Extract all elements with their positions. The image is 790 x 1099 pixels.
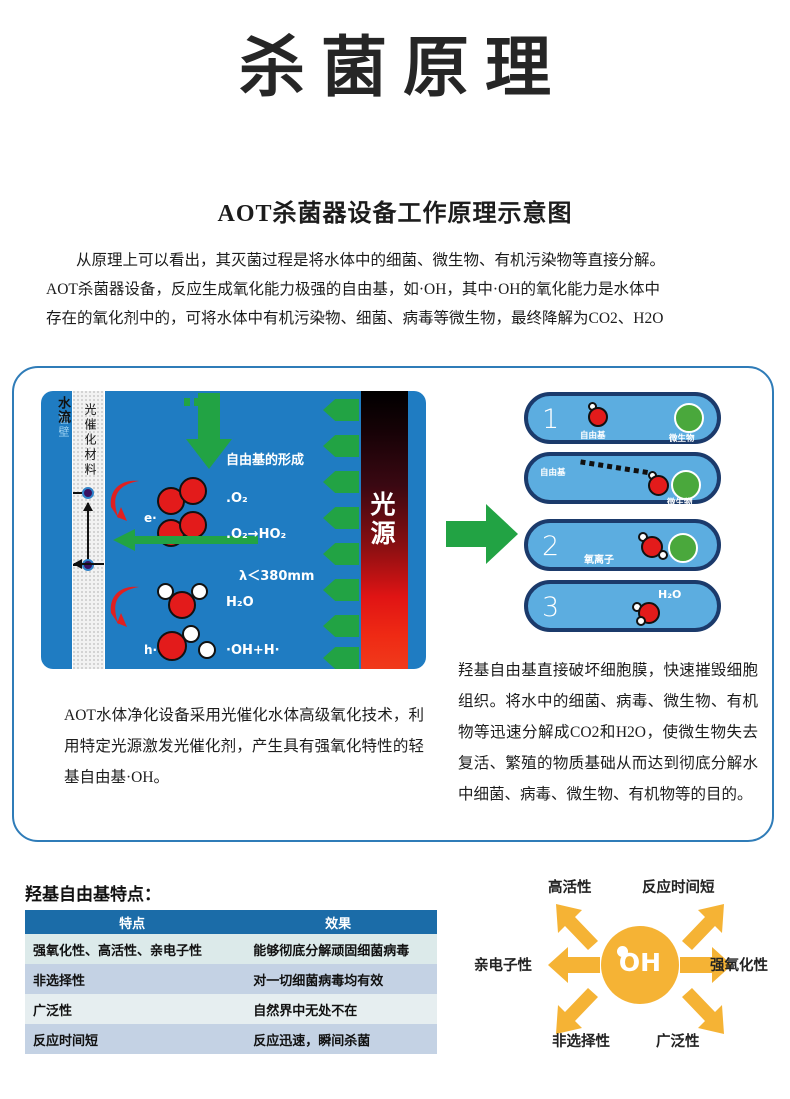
radial-label-high-activity: 高活性 — [548, 876, 592, 897]
red-curve-arrow-upper-icon — [109, 477, 143, 523]
page-root: 杀菌原理 AOT杀菌器设备工作原理示意图 从原理上可以看出，其灭菌过程是将水体中… — [0, 0, 790, 1099]
capsule-number: 3 — [542, 592, 559, 623]
table-row: 强氧化性、高活性、亲电子性 能够彻底分解顽固细菌病毒 — [25, 934, 437, 964]
o2-radical-label: .O₂ — [226, 491, 248, 506]
red-curve-arrow-lower-icon — [109, 583, 143, 629]
intro-line-2: AOT杀菌器设备，反应生成氧化能力极强的自由基，如·OH，其中·OH的氧化能力是… — [46, 275, 746, 304]
uv-chevron-icon — [323, 647, 359, 669]
intro-line-3: 存在的氧化剂中的，可将水体中有机污染物、细菌、病毒等微生物，最终降解为CO2、H… — [46, 304, 746, 333]
uv-chevron-icon — [323, 435, 359, 457]
electron-in-arrow-icon — [74, 563, 104, 565]
electron-dash-top — [73, 492, 82, 494]
uv-chevron-icon — [323, 579, 359, 601]
capsule-step-attack: 自由基 微生物 — [524, 452, 721, 504]
electron-up-arrow-icon — [87, 503, 89, 559]
capsule-label-radical: 自由基 — [580, 429, 606, 441]
microorganism-cell-icon — [668, 533, 698, 563]
electron-dot-bottom — [82, 559, 94, 571]
capsule-label-microorganism: 微生物 — [667, 496, 693, 508]
radial-label-non-selective: 非选择性 — [552, 1030, 610, 1051]
wavelength-dots-icon — [184, 398, 214, 406]
radical-path-dotted-icon — [580, 459, 652, 475]
capsule-label-microorganism: 微生物 — [669, 432, 695, 444]
table-col-feature: 特点 — [25, 910, 239, 934]
intro-paragraph: 从原理上可以看出，其灭菌过程是将水体中的细菌、微生物、有机污染物等直接分解。 A… — [46, 246, 746, 333]
uv-chevron-icon — [323, 399, 359, 421]
capsule-label-radical: 自由基 — [540, 466, 566, 478]
intro-line-1: 从原理上可以看出，其灭菌过程是将水体中的细菌、微生物、有机污染物等直接分解。 — [46, 246, 746, 275]
table-cell-effect: 能够彻底分解顽固细菌病毒 — [239, 934, 437, 964]
capsule-step-1: 1 自由基 微生物 — [524, 392, 721, 444]
uv-chevron-icon — [323, 507, 359, 529]
radial-label-electrophilic: 亲电子性 — [474, 954, 532, 975]
table-row: 非选择性 对一切细菌病毒均有效 — [25, 964, 437, 994]
photocatalyst-band: 光催化材料 — [72, 391, 105, 669]
table-row: 广泛性 自然界中无处不在 — [25, 994, 437, 1024]
water-flow-label: 水流 — [56, 396, 72, 424]
capsule-number: 1 — [542, 404, 559, 435]
table-cell-feature: 反应时间短 — [25, 1024, 239, 1054]
uv-chevron-icon — [323, 471, 359, 493]
capsule-label-h2o: H₂O — [658, 588, 681, 601]
h2o-label: H₂O — [226, 595, 254, 610]
capsule-number: 2 — [542, 531, 559, 562]
uv-chevron-icon — [323, 543, 359, 565]
radical-formation-label: 自由基的形成 — [226, 449, 304, 468]
electron-dot-top — [82, 487, 94, 499]
table-cell-feature: 广泛性 — [25, 994, 239, 1024]
page-subtitle: AOT杀菌器设备工作原理示意图 — [0, 193, 790, 228]
table-title: 羟基自由基特点： — [25, 880, 161, 905]
light-source-column: 光源 — [361, 391, 408, 669]
caption-left-text: AOT水体净化设备采用光催化水体高级氧化技术，利用特定光源激发光催化剂，产生具有… — [64, 707, 424, 786]
oh-center-circle: OH — [601, 926, 679, 1004]
wavelength-label: λ＜380mm — [239, 565, 314, 584]
uv-chevron-icon — [323, 615, 359, 637]
o2-to-ho2-label: .O₂→HO₂ — [226, 527, 286, 542]
capsule-label-oxygen-ion: 氧离子 — [584, 551, 614, 566]
reactor-diagram: 管壁 光催化材料 水流 — [41, 391, 426, 669]
caption-right-text: 羟基自由基直接破坏细胞膜，快速摧毁细胞组织。将水中的细菌、病毒、微生物、有机物等… — [458, 662, 758, 803]
uv-chevrons-group — [323, 397, 363, 665]
table-cell-effect: 自然界中无处不在 — [239, 994, 437, 1024]
table-cell-feature: 非选择性 — [25, 964, 239, 994]
table-cell-feature: 强氧化性、高活性、亲电子性 — [25, 934, 239, 964]
table-cell-effect: 对一切细菌病毒均有效 — [239, 964, 437, 994]
table-cell-effect: 反应迅速，瞬间杀菌 — [239, 1024, 437, 1054]
oh-center-label: OH — [601, 948, 679, 977]
hole-label: h· — [144, 643, 157, 657]
caption-right: 羟基自由基直接破坏细胞膜，快速摧毁细胞组织。将水中的细菌、病毒、微生物、有机物等… — [458, 655, 758, 810]
oh-radial-diagram: OH 高活性 反应时间短 亲电子性 强氧化性 非选择性 广泛性 — [470, 870, 790, 1060]
radial-label-strong-oxidation: 强氧化性 — [710, 954, 768, 975]
capsule-step-2: 2 氧离子 — [524, 519, 721, 571]
microorganism-cell-icon — [674, 403, 704, 433]
radial-label-universal: 广泛性 — [656, 1030, 700, 1051]
features-table: 特点 效果 强氧化性、高活性、亲电子性 能够彻底分解顽固细菌病毒 非选择性 对一… — [25, 910, 437, 1054]
table-row: 反应时间短 反应迅速，瞬间杀菌 — [25, 1024, 437, 1054]
table-header-row: 特点 效果 — [25, 910, 437, 934]
page-title: 杀菌原理 — [0, 32, 790, 105]
capsule-step-3: 3 H₂O — [524, 580, 721, 632]
table-col-effect: 效果 — [239, 910, 437, 934]
caption-left: AOT水体净化设备采用光催化水体高级氧化技术，利用特定光源激发光催化剂，产生具有… — [64, 700, 424, 793]
process-flow-arrow-icon — [446, 504, 518, 564]
light-source-label: 光源 — [371, 491, 399, 549]
oh-plus-h-label: ·OH+H· — [226, 643, 280, 658]
radial-label-short-reaction-time: 反应时间短 — [642, 876, 715, 897]
photocatalyst-label: 光催化材料 — [77, 403, 99, 478]
electron-label: e· — [144, 511, 157, 525]
